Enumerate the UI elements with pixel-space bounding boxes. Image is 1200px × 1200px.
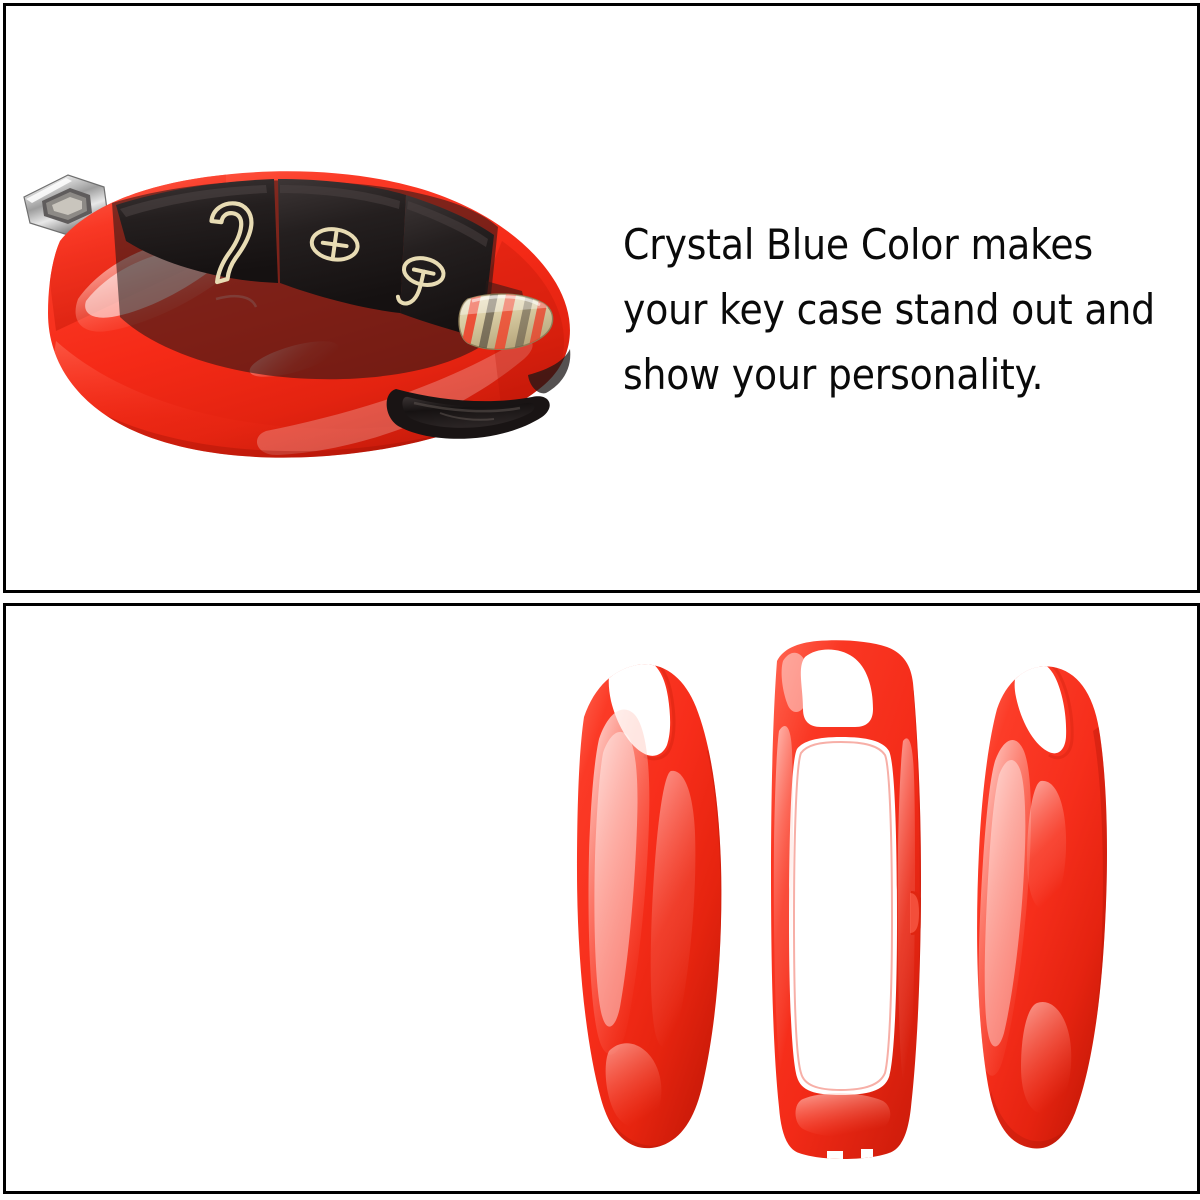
button-strip bbox=[112, 179, 528, 379]
product-infographic: Crystal Blue Color makes your key case s… bbox=[0, 0, 1200, 1200]
material-feature-panel: Made of high quality ABS Material with s… bbox=[3, 603, 1200, 1194]
shell-piece-right bbox=[977, 658, 1121, 1181]
shell-piece-left bbox=[577, 655, 727, 1181]
color-feature-panel: Crystal Blue Color makes your key case s… bbox=[3, 3, 1200, 593]
shell-pieces-image bbox=[521, 621, 1191, 1186]
color-feature-text: Crystal Blue Color makes your key case s… bbox=[623, 212, 1181, 407]
shell-piece-middle bbox=[771, 640, 931, 1169]
key-fob-image bbox=[16, 131, 596, 476]
